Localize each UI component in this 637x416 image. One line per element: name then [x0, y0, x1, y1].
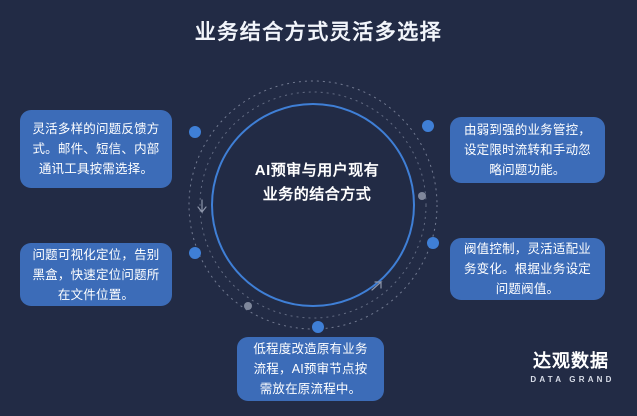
callout-feedback[interactable]: 灵活多样的问题反馈方式。邮件、短信、内部通讯工具按需选择。 [20, 110, 172, 188]
callout-locate-text: 问题可视化定位，告别黑盒，快速定位问题所在文件位置。 [32, 245, 160, 305]
ring-node-gray-right [418, 192, 426, 200]
callout-threshold-text: 阀值控制，灵活适配业务变化。根据业务设定问题阀值。 [462, 239, 593, 299]
center-hub-label: AI预审与用户现有 业务的结合方式 [237, 159, 397, 207]
brand-logo-cn: 达观数据 [519, 350, 623, 372]
arrow-down-left-icon [198, 200, 206, 212]
callout-control[interactable]: 由弱到强的业务管控，设定限时流转和手动忽略问题功能。 [450, 117, 605, 183]
callout-threshold[interactable]: 阀值控制，灵活适配业务变化。根据业务设定问题阀值。 [450, 238, 605, 300]
callout-process[interactable]: 低程度改造原有业务流程，AI预审节点按需放在原流程中。 [237, 337, 384, 401]
callout-control-text: 由弱到强的业务管控，设定限时流转和手动忽略问题功能。 [462, 120, 593, 180]
brand-logo-en: DATA GRAND [519, 374, 623, 386]
slide-canvas: 业务结合方式灵活多选择 AI预审与用户现有 业务的结合方式 灵活多样的问题反馈方… [0, 0, 637, 416]
arrow-up-right-icon [372, 282, 381, 290]
page-title: 业务结合方式灵活多选择 [0, 19, 637, 47]
accent-dot-right-top [422, 120, 434, 132]
accent-dot-left-top [189, 126, 201, 138]
ring-node-gray-bottom-left [244, 302, 252, 310]
center-hub-line-1: AI预审与用户现有 [237, 159, 397, 183]
accent-dot-bottom-center [312, 321, 324, 333]
accent-dot-right-bottom [427, 237, 439, 249]
center-hub-line-2: 业务的结合方式 [237, 183, 397, 207]
callout-process-text: 低程度改造原有业务流程，AI预审节点按需放在原流程中。 [249, 339, 372, 399]
brand-logo: 达观数据 DATA GRAND [519, 350, 623, 386]
callout-feedback-text: 灵活多样的问题反馈方式。邮件、短信、内部通讯工具按需选择。 [32, 119, 160, 179]
callout-locate[interactable]: 问题可视化定位，告别黑盒，快速定位问题所在文件位置。 [20, 243, 172, 306]
accent-dot-left-bottom [189, 247, 201, 259]
